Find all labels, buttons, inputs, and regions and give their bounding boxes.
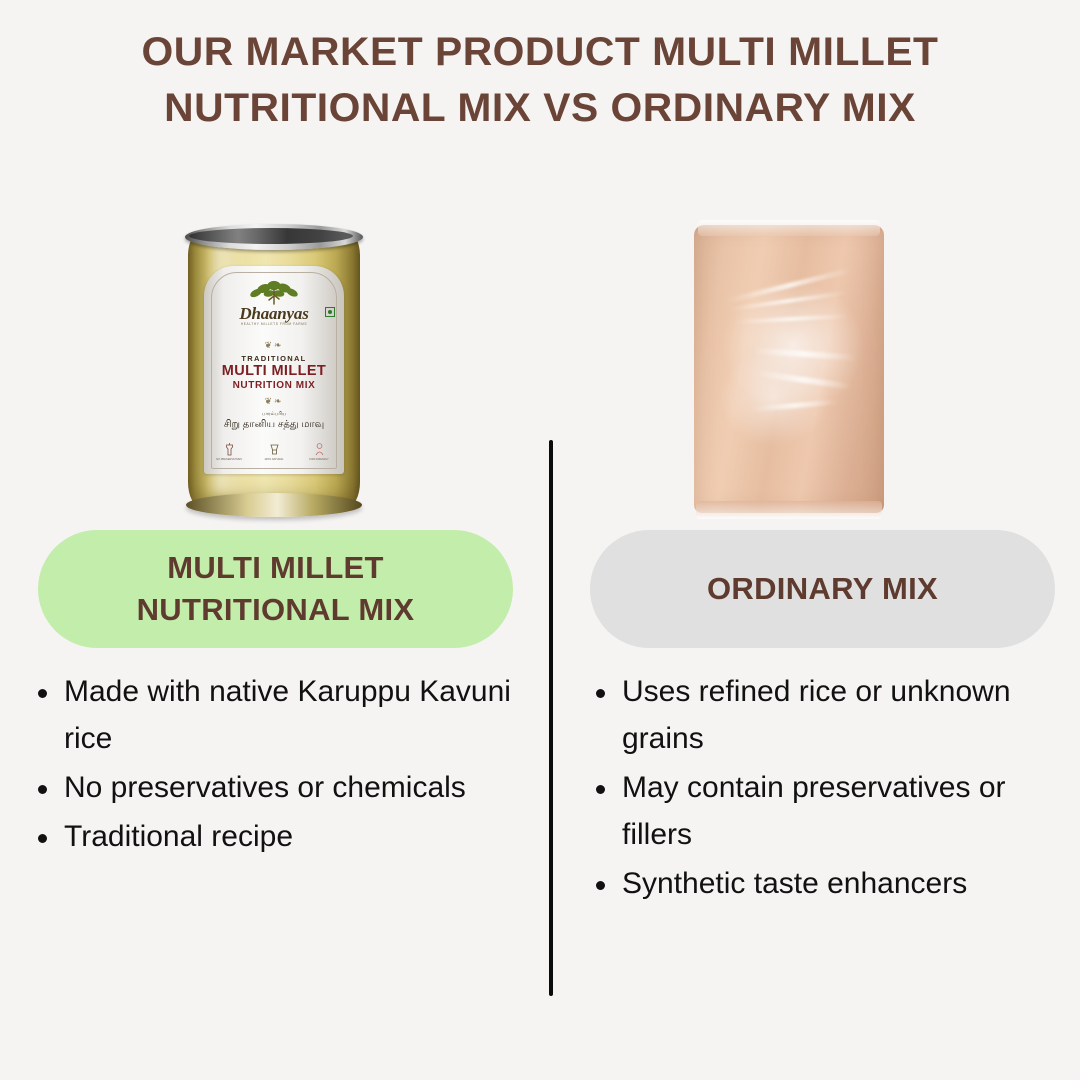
- list-item: Made with native Karuppu Kavuni rice: [30, 668, 520, 762]
- label-tamil-main: சிறு தானிய சத்து மாவு: [204, 419, 344, 431]
- brand-tagline: HEALTHY MILLETS FROM FARMS: [204, 322, 344, 326]
- vertical-divider: [549, 440, 553, 996]
- list-item: Synthetic taste enhancers: [588, 860, 1078, 907]
- pouch-body: [694, 225, 884, 513]
- flourish-ornament-bottom: ❦❧: [204, 396, 344, 407]
- no-preservatives-icon: NO PRESERVATIVES: [216, 442, 242, 461]
- plastic-pouch-graphic: [694, 225, 884, 513]
- pouch-seal-top: [698, 220, 880, 236]
- kids-friendly-caption: KIDS FRIENDLY: [306, 458, 332, 461]
- label-line-subtitle: NUTRITION MIX: [204, 380, 344, 391]
- comparison-column-right: [540, 180, 1080, 530]
- brand-name: Dhaanyas: [204, 304, 344, 324]
- vegetarian-mark-icon: [325, 307, 335, 317]
- list-item: Uses refined rice or unknown grains: [588, 668, 1078, 762]
- natural-ingredients-caption: 100% NATURAL: [261, 458, 287, 461]
- list-item: May contain preservatives or fillers: [588, 764, 1078, 858]
- can-label: Dhaanyas HEALTHY MILLETS FROM FARMS ❦❧ T…: [204, 266, 344, 474]
- tree-logo-icon: [204, 279, 344, 305]
- vegetarian-mark-dot: [328, 310, 332, 314]
- page-title: OUR MARKET PRODUCT MULTI MILLET NUTRITIO…: [0, 24, 1080, 136]
- product-image-ordinary-pouch: [540, 180, 1080, 530]
- list-item: No preservatives or chemicals: [30, 764, 520, 811]
- badge-multi-millet-nutritional-mix: MULTI MILLET NUTRITIONAL MIX: [38, 530, 513, 648]
- kids-friendly-icon: KIDS FRIENDLY: [306, 442, 332, 461]
- label-tamil-small: பாரம்பரிய: [204, 411, 344, 417]
- comparison-column-left: Dhaanyas HEALTHY MILLETS FROM FARMS ❦❧ T…: [0, 180, 540, 530]
- pouch-seal-bottom: [696, 501, 882, 519]
- flourish-ornament-top: ❦❧: [204, 340, 344, 351]
- feature-list-ordinary-mix: Uses refined rice or unknown grains May …: [588, 668, 1078, 909]
- can-rim-inner: [189, 228, 353, 244]
- list-item: Traditional recipe: [30, 813, 520, 860]
- label-line-product: MULTI MILLET: [204, 363, 344, 379]
- label-feature-icons: NO PRESERVATIVES 100% NATURAL KIDS: [216, 442, 332, 461]
- product-image-multi-millet-can: Dhaanyas HEALTHY MILLETS FROM FARMS ❦❧ T…: [0, 180, 540, 530]
- page-title-line-1: OUR MARKET PRODUCT MULTI MILLET: [0, 24, 1080, 80]
- feature-list-multi-millet: Made with native Karuppu Kavuni rice No …: [30, 668, 520, 862]
- badge-left-line-2: NUTRITIONAL MIX: [137, 589, 415, 631]
- label-line-traditional: TRADITIONAL: [204, 354, 344, 363]
- can-rim: [185, 224, 363, 250]
- can-base: [186, 493, 362, 517]
- badge-left-line-1: MULTI MILLET: [137, 547, 415, 589]
- badge-ordinary-mix: ORDINARY MIX: [590, 530, 1055, 648]
- badge-right-line-1: ORDINARY MIX: [707, 568, 938, 610]
- page-title-line-2: NUTRITIONAL MIX VS ORDINARY MIX: [0, 80, 1080, 136]
- tin-can-graphic: Dhaanyas HEALTHY MILLETS FROM FARMS ❦❧ T…: [188, 230, 360, 508]
- natural-ingredients-icon: 100% NATURAL: [261, 442, 287, 461]
- no-preservatives-caption: NO PRESERVATIVES: [216, 458, 242, 461]
